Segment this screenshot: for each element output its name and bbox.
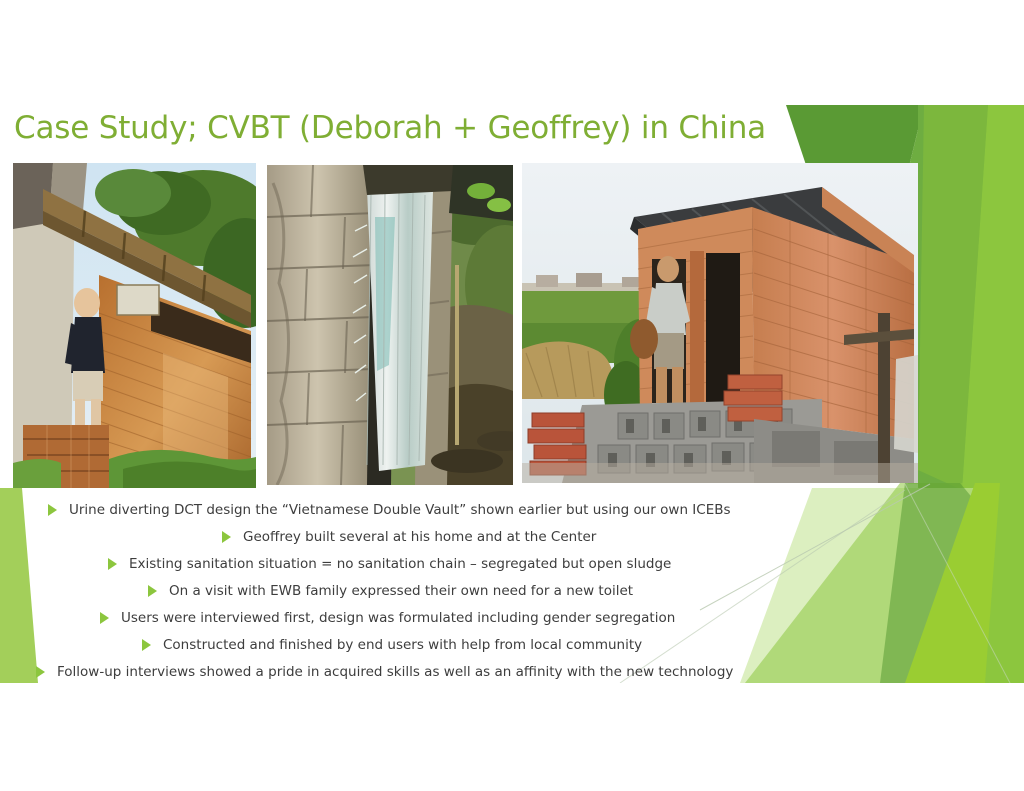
bullet-text: Geoffrey built several at his home and a… (243, 529, 596, 545)
bullet-text: Follow-up interviews showed a pride in a… (57, 664, 733, 680)
triangle-bullet-icon (148, 585, 157, 597)
triangle-bullet-icon (100, 612, 109, 624)
list-item: Urine diverting DCT design the “Vietname… (0, 496, 1024, 523)
triangle-bullet-icon (142, 639, 151, 651)
deco-top-mid-band (905, 105, 1024, 200)
deco-vertical-mid (918, 105, 988, 490)
photo-vietnamese-double-vault-latrine (13, 163, 256, 488)
photo-completed-iceb-toilet (522, 163, 918, 483)
triangle-bullet-icon (36, 666, 45, 678)
deco-vertical-bright (962, 105, 1024, 520)
slide-canvas: Case Study; CVBT (Deborah + Geoffrey) in… (0, 0, 1024, 683)
list-item: Constructed and finished by end users wi… (0, 631, 1024, 658)
list-item: Users were interviewed first, design was… (0, 604, 1024, 631)
bullet-text: Urine diverting DCT design the “Vietname… (69, 502, 731, 518)
page-title: Case Study; CVBT (Deborah + Geoffrey) in… (14, 108, 794, 148)
triangle-bullet-icon (108, 558, 117, 570)
bullet-text: Existing sanitation situation = no sanit… (129, 556, 671, 572)
bullet-text: On a visit with EWB family expressed the… (169, 583, 633, 599)
triangle-bullet-icon (48, 504, 57, 516)
photo-existing-mud-wall-latrine (267, 165, 513, 485)
list-item: Geoffrey built several at his home and a… (0, 523, 1024, 550)
triangle-bullet-icon (222, 531, 231, 543)
bullet-text: Users were interviewed first, design was… (121, 610, 675, 626)
deco-vertical-dark (918, 105, 1024, 500)
bullet-text: Constructed and finished by end users wi… (163, 637, 642, 653)
list-item: Existing sanitation situation = no sanit… (0, 550, 1024, 577)
bullet-list: Urine diverting DCT design the “Vietname… (0, 496, 1024, 683)
list-item: Follow-up interviews showed a pride in a… (0, 658, 1024, 683)
list-item: On a visit with EWB family expressed the… (0, 577, 1024, 604)
